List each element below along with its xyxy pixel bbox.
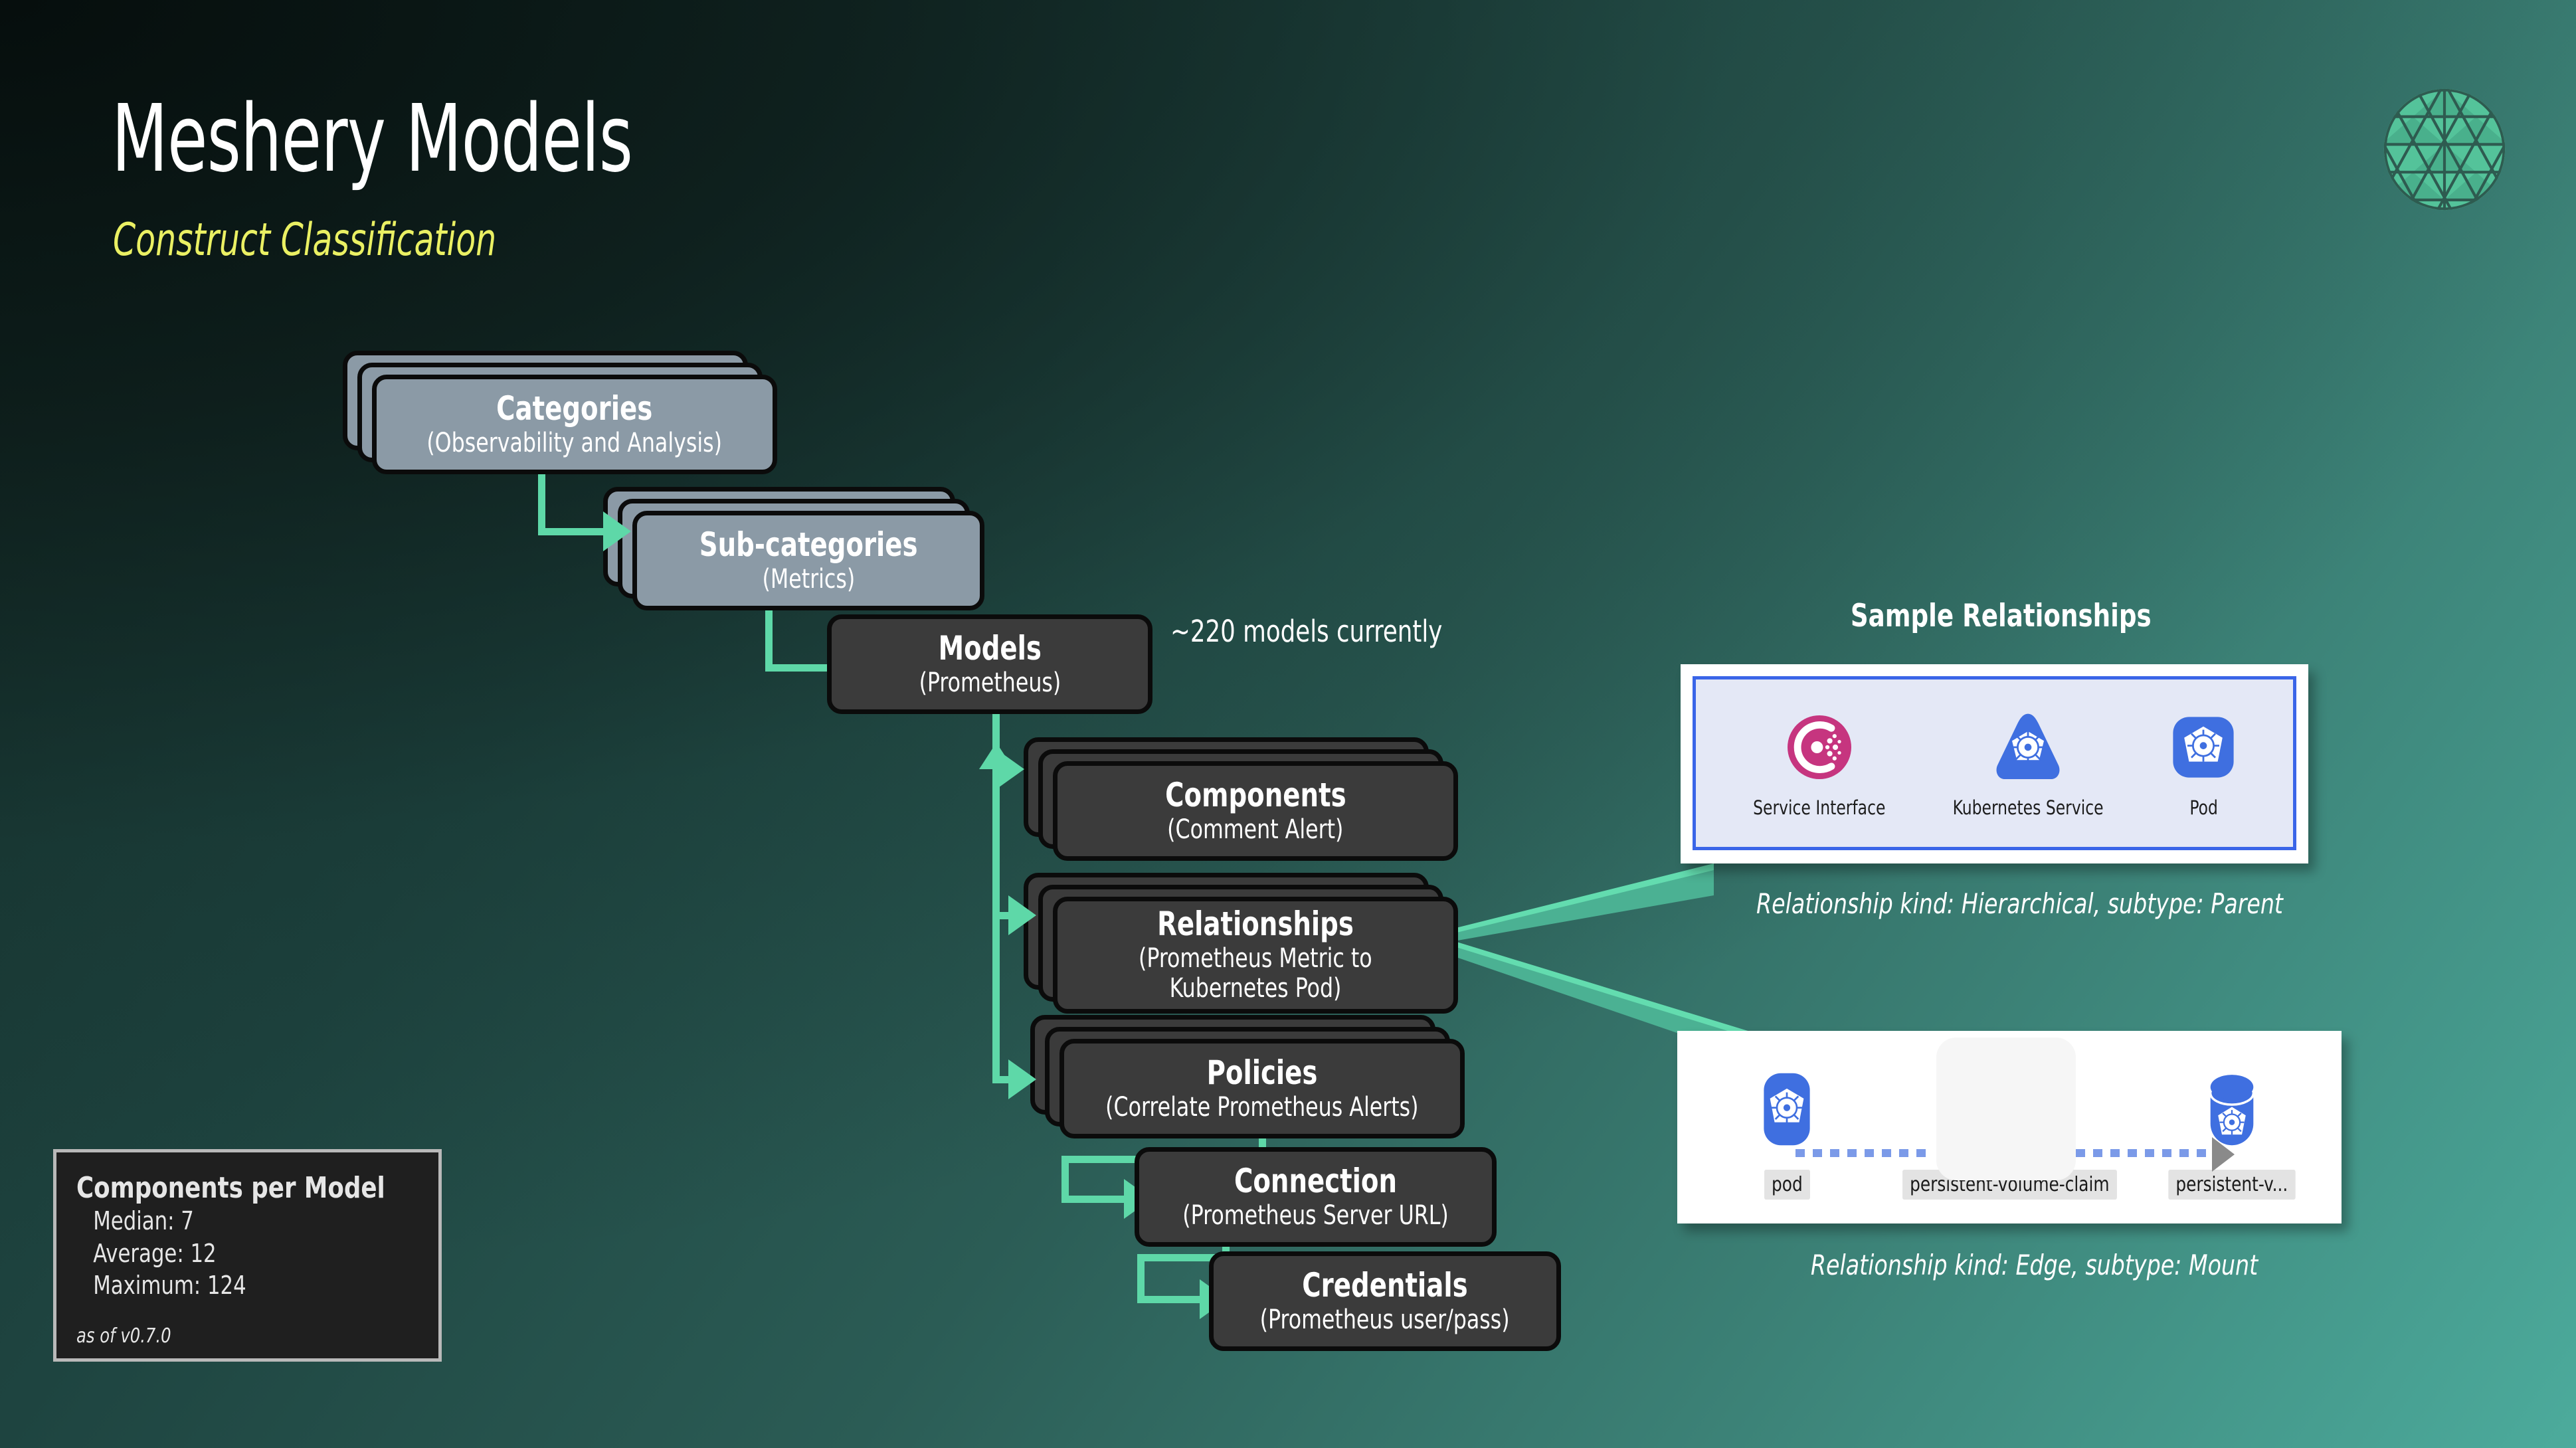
sample-item-pod2[interactable]: pod bbox=[1710, 1059, 1863, 1200]
node-components[interactable]: Components (Comment Alert) bbox=[1053, 761, 1458, 861]
sample-item-pod[interactable]: Pod bbox=[2163, 707, 2243, 819]
connector-sub-models-horizontal bbox=[765, 664, 830, 672]
sample-panel-hierarchical-inner: Service Interface bbox=[1693, 676, 2296, 850]
kubernetes-service-icon bbox=[1988, 707, 2068, 787]
sample-panel-edge[interactable]: pod persistent bbox=[1677, 1031, 2342, 1223]
arrowhead-policies bbox=[1008, 1059, 1036, 1099]
node-subcategories[interactable]: Sub-categories (Metrics) bbox=[632, 511, 984, 610]
node-relationships-subtitle-line2: Kubernetes Pod) bbox=[1170, 974, 1342, 1004]
sample-item-pv[interactable]: persistent-v... bbox=[2156, 1059, 2308, 1200]
node-categories-subtitle: (Observability and Analysis) bbox=[427, 428, 723, 458]
caption-hierarchical: Relationship kind: Hierarchical, subtype… bbox=[1756, 887, 2283, 920]
node-categories-title: Categories bbox=[496, 391, 652, 426]
node-relationships-subtitle-line1: (Prometheus Metric to bbox=[1139, 944, 1372, 974]
connector-cat-sub-horizontal bbox=[538, 528, 604, 535]
sample-item-label: Kubernetes Service bbox=[1953, 796, 2104, 819]
node-credentials[interactable]: Credentials (Prometheus user/pass) bbox=[1209, 1251, 1561, 1351]
node-connection-subtitle: (Prometheus Server URL) bbox=[1182, 1201, 1448, 1231]
arrowhead-components bbox=[996, 749, 1024, 789]
node-subcategories-title: Sub-categories bbox=[699, 527, 918, 563]
caption-edge: Relationship kind: Edge, subtype: Mount bbox=[1811, 1249, 2258, 1281]
connector-connection-credentials-h2 bbox=[1137, 1296, 1201, 1303]
page-subtitle: Construct Classification bbox=[113, 214, 496, 266]
page-title: Meshery Models bbox=[112, 93, 632, 186]
node-subcategories-subtitle: (Metrics) bbox=[762, 565, 855, 594]
sample-item-kubernetes-service[interactable]: Kubernetes Service bbox=[1944, 707, 2112, 819]
sample-item-label: pod bbox=[1764, 1170, 1810, 1200]
node-policies-subtitle: (Correlate Prometheus Alerts) bbox=[1105, 1093, 1418, 1123]
node-relationships[interactable]: Relationships (Prometheus Metric to Kube… bbox=[1053, 897, 1458, 1014]
kubernetes-pod-icon bbox=[2163, 707, 2243, 787]
node-connection-title: Connection bbox=[1234, 1164, 1397, 1199]
node-credentials-title: Credentials bbox=[1302, 1268, 1467, 1303]
slide-canvas: Meshery Models Construct Classification bbox=[0, 0, 2576, 1448]
connector-policies-connection-h2 bbox=[1061, 1196, 1125, 1203]
stats-row-average: Average: 12 bbox=[76, 1237, 385, 1270]
node-connection[interactable]: Connection (Prometheus Server URL) bbox=[1135, 1147, 1497, 1247]
node-relationships-title: Relationships bbox=[1157, 907, 1354, 942]
service-interface-icon bbox=[1780, 707, 1859, 787]
node-components-title: Components bbox=[1165, 778, 1346, 813]
sample-item-label: persistent-v... bbox=[2168, 1170, 2295, 1200]
dotted-edge-pvc-pv bbox=[2076, 1149, 2222, 1157]
pvc-highlight bbox=[1936, 1038, 2076, 1180]
sample-relationships-heading: Sample Relationships bbox=[1851, 598, 2152, 634]
arrowhead-cat-sub bbox=[603, 511, 631, 551]
dotted-edge-pod-pvc bbox=[1795, 1149, 1928, 1157]
stats-title: Components per Model bbox=[76, 1171, 385, 1205]
meshery-logo bbox=[2381, 86, 2508, 213]
node-components-subtitle: (Comment Alert) bbox=[1167, 815, 1343, 845]
stats-footnote: as of v0.7.0 bbox=[76, 1324, 385, 1348]
node-models-title: Models bbox=[938, 631, 1041, 666]
node-models-subtitle: (Prometheus) bbox=[919, 668, 1061, 698]
stats-row-maximum: Maximum: 124 bbox=[76, 1269, 385, 1302]
node-models[interactable]: Models (Prometheus) bbox=[827, 614, 1152, 714]
components-per-model-stats: Components per Model Median: 7 Average: … bbox=[53, 1149, 442, 1362]
node-policies-title: Policies bbox=[1207, 1055, 1318, 1091]
node-credentials-subtitle: (Prometheus user/pass) bbox=[1260, 1305, 1510, 1335]
node-categories[interactable]: Categories (Observability and Analysis) bbox=[372, 375, 777, 474]
arrowhead-relationships bbox=[1008, 895, 1036, 935]
dotted-edge-arrowhead bbox=[2212, 1137, 2235, 1172]
sample-item-label: Service Interface bbox=[1753, 796, 1885, 819]
models-count-note: ~220 models currently bbox=[1170, 614, 1442, 649]
sample-item-service-interface[interactable]: Service Interface bbox=[1746, 707, 1893, 819]
sample-item-label: Pod bbox=[2189, 796, 2218, 819]
node-policies[interactable]: Policies (Correlate Prometheus Alerts) bbox=[1059, 1039, 1465, 1138]
kubernetes-pod-icon bbox=[1747, 1059, 1827, 1159]
stats-row-median: Median: 7 bbox=[76, 1205, 385, 1237]
sample-panel-hierarchical[interactable]: Service Interface bbox=[1681, 664, 2308, 863]
